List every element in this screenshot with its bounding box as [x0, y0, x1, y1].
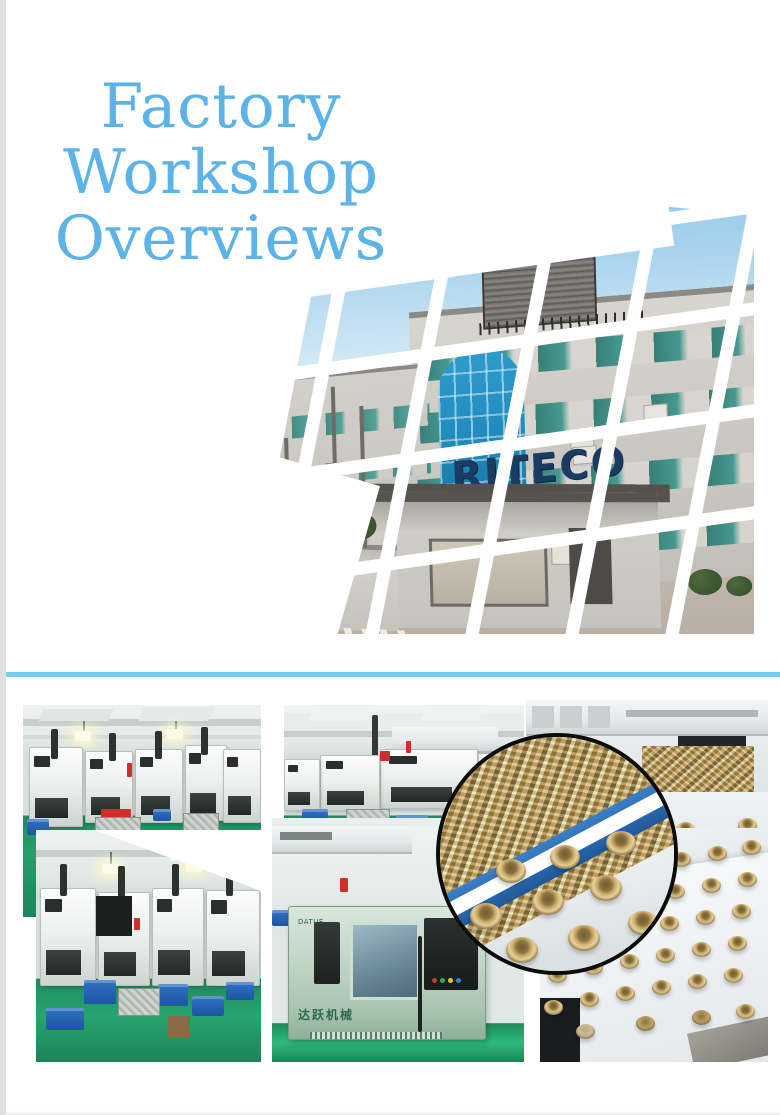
magnified-bushing: [496, 859, 526, 883]
workshop-cnc-row-lower[interactable]: [36, 830, 261, 1062]
magnified-bushing: [568, 925, 600, 951]
lathe-button-row[interactable]: [432, 978, 461, 983]
magnified-bushing: [506, 937, 538, 963]
shrub: [688, 569, 723, 596]
page-title: Factory Workshop Overviews: [46, 78, 396, 268]
magnified-bushing: [590, 875, 622, 901]
magnified-bushing: [550, 845, 580, 869]
ac-unit: [643, 403, 667, 423]
collage-mask-right: [754, 156, 780, 672]
magnifier-circle-inset[interactable]: [436, 733, 678, 975]
title-line-1: Factory: [46, 78, 396, 136]
lathe-cable: [418, 936, 422, 1032]
lathe-brand-latin: DATUE: [298, 918, 324, 926]
magnified-bushing: [470, 903, 502, 929]
lathe-brand-chinese: 达跃机械: [298, 1006, 354, 1023]
hero-section: Factory Workshop Overviews: [6, 0, 780, 672]
gatehouse-window: [429, 539, 549, 607]
magnified-bushing: [532, 889, 564, 915]
lathe-vent-grille: [310, 1032, 442, 1039]
title-line-3: Overviews: [46, 210, 396, 268]
title-line-2: Workshop: [46, 144, 396, 202]
lathe-window: [350, 922, 420, 1000]
magnified-bushing: [628, 911, 658, 935]
document-page: Factory Workshop Overviews: [0, 0, 780, 1115]
shrub: [726, 576, 753, 597]
magnified-bushing: [606, 831, 636, 855]
lathe-control-panel: [314, 922, 340, 984]
gatehouse-door: [569, 528, 613, 604]
gallery-section: DATUE 达跃机械: [6, 700, 780, 1080]
